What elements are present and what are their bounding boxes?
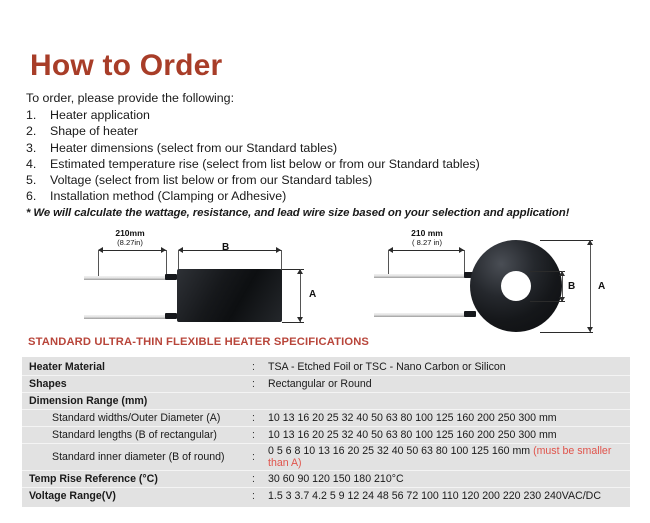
list-item: 1. Heater application — [26, 107, 626, 123]
list-item-label: Shape of heater — [50, 123, 626, 139]
round-heater-diagram: 210 mm ( 8.27 in) B A — [370, 228, 640, 336]
specifications-table: Heater Material : TSA - Etched Foil or T… — [22, 359, 630, 504]
round-outer-extension-top — [540, 240, 593, 241]
rect-lead-wire-top — [84, 276, 172, 280]
rect-lead-length-value: 210mm — [115, 228, 144, 238]
rect-width-letter-b: B — [222, 242, 229, 253]
rect-height-dimension-line — [300, 269, 301, 322]
spec-table-bottom-edge — [22, 504, 630, 507]
round-lead-wire-top — [374, 274, 470, 278]
list-item: 2. Shape of heater — [26, 123, 626, 139]
rect-width-dimension-line — [178, 250, 281, 251]
row-label: Shapes — [22, 376, 252, 393]
row-colon: : — [252, 444, 266, 471]
table-row: Standard widths/Outer Diameter (A) : 10 … — [22, 410, 630, 427]
row-value: 10 13 16 20 25 32 40 50 63 80 100 125 16… — [266, 410, 630, 427]
footnote-text: * We will calculate the wattage, resista… — [26, 205, 626, 221]
round-lead-extension-left — [388, 250, 389, 276]
table-row: Standard inner diameter (B of round) : 0… — [22, 444, 630, 471]
row-label: Standard widths/Outer Diameter (A) — [22, 410, 252, 427]
round-outer-extension-bottom — [540, 332, 593, 333]
row-value: TSA - Etched Foil or TSC - Nano Carbon o… — [266, 359, 630, 376]
row-label: Voltage Range(V) — [22, 488, 252, 505]
round-crimp-bottom — [464, 311, 476, 317]
round-lead-length-label: 210 mm ( 8.27 in) — [384, 228, 470, 248]
table-row: Voltage Range(V) : 1.5 3 3.7 4.2 5 9 12 … — [22, 488, 630, 505]
rect-lead-extension-left — [98, 250, 99, 278]
rect-heater-body — [177, 269, 282, 322]
rect-height-letter-a: A — [309, 289, 316, 300]
list-item-label: Heater application — [50, 107, 626, 123]
row-colon: : — [252, 359, 266, 376]
list-item-number: 3. — [26, 140, 50, 156]
spec-table-title: STANDARD ULTRA-THIN FLEXIBLE HEATER SPEC… — [28, 336, 369, 348]
order-instructions: To order, please provide the following: … — [26, 90, 626, 222]
table-row: Standard lengths (B of rectangular) : 10… — [22, 427, 630, 444]
row-label: Standard inner diameter (B of round) — [22, 444, 252, 471]
round-inner-arrow-up-icon — [559, 271, 565, 276]
rect-crimp-top — [165, 274, 177, 280]
row-colon: : — [252, 410, 266, 427]
round-outer-arrow-up-icon — [587, 240, 593, 245]
product-diagrams: 210mm (8.27in) B A 210 mm — [0, 228, 650, 336]
round-heater-inner-hole — [501, 271, 531, 301]
rectangular-heater-diagram: 210mm (8.27in) B A — [62, 228, 332, 336]
order-steps-list: 1. Heater application 2. Shape of heater… — [26, 107, 626, 204]
round-inner-arrow-down-icon — [559, 297, 565, 302]
row-colon: : — [252, 471, 266, 488]
round-outer-arrow-down-icon — [587, 327, 593, 332]
list-item: 6. Installation method (Clamping or Adhe… — [26, 188, 626, 204]
round-outer-letter-a: A — [598, 281, 605, 292]
table-row: Dimension Range (mm) — [22, 393, 630, 410]
rect-height-extension-bottom — [282, 322, 304, 323]
rect-lead-dimension-line — [98, 250, 166, 251]
row-value: 1.5 3 3.7 4.2 5 9 12 24 48 56 72 100 110… — [266, 488, 630, 505]
list-item-number: 4. — [26, 156, 50, 172]
row-value-wrapper: 0 5 6 8 10 13 16 20 25 32 40 50 63 80 10… — [266, 444, 630, 471]
page-title: How to Order — [30, 50, 222, 82]
table-row: Shapes : Rectangular or Round — [22, 376, 630, 393]
row-colon: : — [252, 427, 266, 444]
row-value — [266, 393, 630, 410]
row-label: Temp Rise Reference (°C) — [22, 471, 252, 488]
rect-height-arrow-up-icon — [297, 269, 303, 274]
round-lead-dimension-line — [388, 250, 464, 251]
round-inner-letter-b: B — [568, 281, 575, 292]
row-label: Standard lengths (B of rectangular) — [22, 427, 252, 444]
rect-lead-length-label: 210mm (8.27in) — [90, 228, 170, 248]
list-item-number: 6. — [26, 188, 50, 204]
row-label: Dimension Range (mm) — [22, 393, 252, 410]
list-item: 4. Estimated temperature rise (select fr… — [26, 156, 626, 172]
row-value: 10 13 16 20 25 32 40 50 63 80 100 125 16… — [266, 427, 630, 444]
row-label: Heater Material — [22, 359, 252, 376]
row-value: Rectangular or Round — [266, 376, 630, 393]
table-row: Heater Material : TSA - Etched Foil or T… — [22, 359, 630, 376]
list-item-label: Estimated temperature rise (select from … — [50, 156, 626, 172]
round-lead-length-inches: ( 8.27 in) — [384, 238, 470, 248]
list-item-number: 1. — [26, 107, 50, 123]
rect-crimp-bottom — [165, 313, 177, 319]
list-item: 3. Heater dimensions (select from our St… — [26, 140, 626, 156]
row-colon — [252, 393, 266, 410]
rect-height-arrow-down-icon — [297, 317, 303, 322]
list-item-number: 5. — [26, 172, 50, 188]
list-item-label: Heater dimensions (select from our Stand… — [50, 140, 626, 156]
row-colon: : — [252, 488, 266, 505]
row-value: 30 60 90 120 150 180 210°C — [266, 471, 630, 488]
row-colon: : — [252, 376, 266, 393]
table-row: Temp Rise Reference (°C) : 30 60 90 120 … — [22, 471, 630, 488]
round-outer-dimension-line — [590, 240, 591, 332]
row-value: 0 5 6 8 10 13 16 20 25 32 40 50 63 80 10… — [268, 445, 533, 457]
round-lead-length-value: 210 mm — [411, 228, 443, 238]
round-lead-wire-bottom — [374, 313, 470, 317]
rect-lead-wire-bottom — [84, 315, 172, 319]
list-item-label: Voltage (select from list below or from … — [50, 172, 626, 188]
list-item-number: 2. — [26, 123, 50, 139]
list-item-label: Installation method (Clamping or Adhesiv… — [50, 188, 626, 204]
intro-lead-text: To order, please provide the following: — [26, 90, 626, 106]
list-item: 5. Voltage (select from list below or fr… — [26, 172, 626, 188]
